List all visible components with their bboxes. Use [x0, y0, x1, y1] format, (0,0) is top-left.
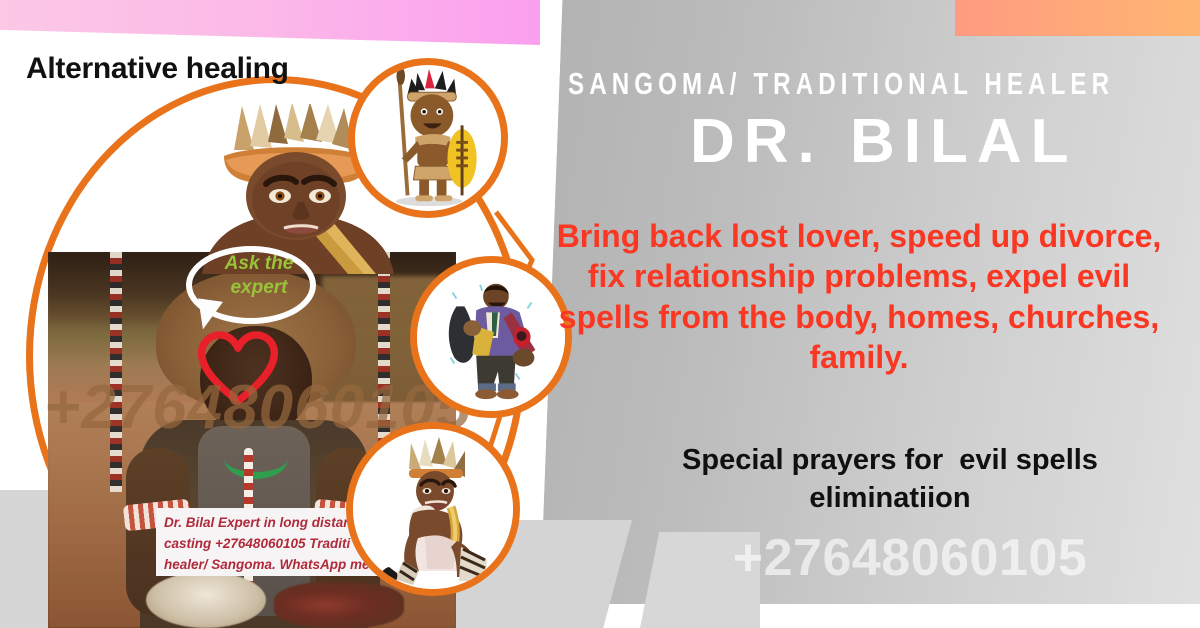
special-prayers-subheading: Special prayers for evil spells eliminat… — [600, 442, 1180, 517]
top-pink-banner-shape — [0, 0, 600, 47]
kneeling-sangoma-illustration-icon — [353, 429, 513, 589]
page-title-dr-bilal: DR. BILAL — [690, 106, 1078, 177]
zulu-warrior-cartoon-icon — [355, 65, 501, 211]
circle-zulu-warrior-cartoon — [348, 58, 508, 218]
poster-canvas: Alternative healing — [0, 0, 1200, 628]
speech-bubble-tail — [194, 298, 223, 331]
ask-the-expert-text: Ask the expert — [204, 252, 314, 300]
top-orange-banner-shape — [955, 0, 1200, 36]
services-body-text: Bring back lost lover, speed up divorce,… — [540, 216, 1178, 377]
alternative-healing-heading: Alternative healing — [26, 52, 289, 86]
phone-number-watermark: +27648060105 — [640, 528, 1180, 588]
kicker-sangoma-traditional-healer: SANGOMA/ TRADITIONAL HEALER — [568, 66, 1114, 102]
circle-kneeling-sangoma-illustration — [346, 422, 520, 596]
